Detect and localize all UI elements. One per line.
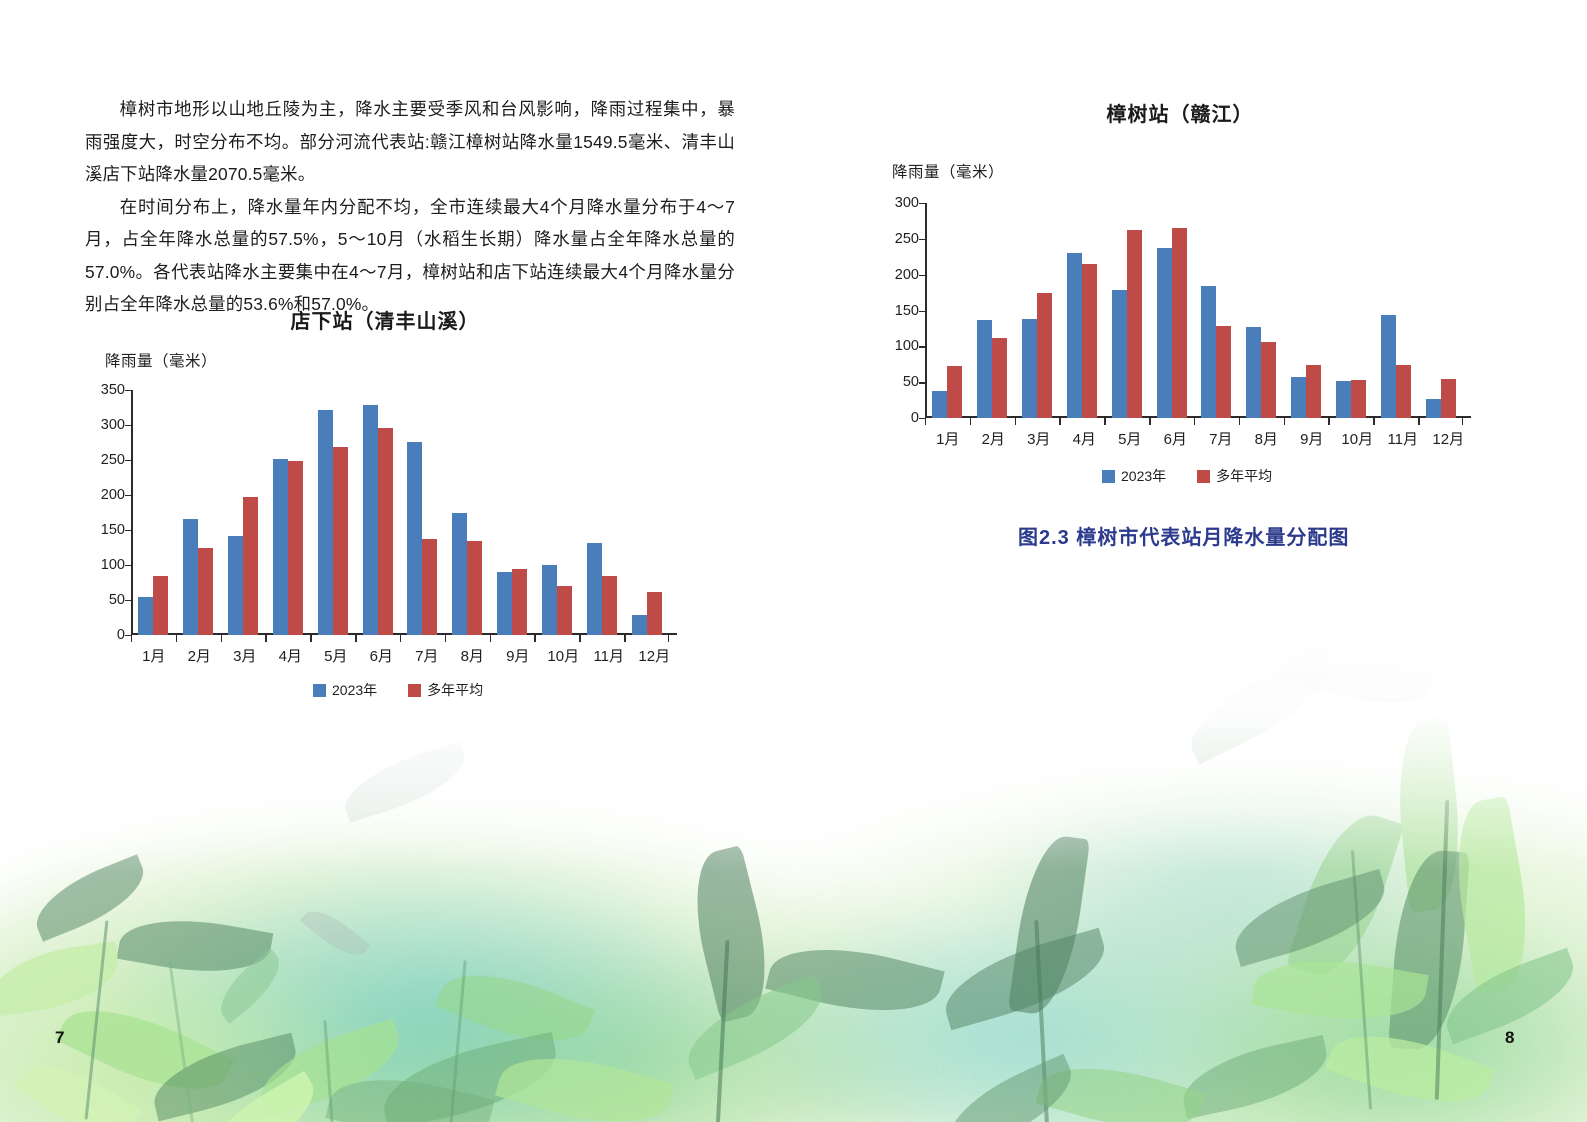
bar-group xyxy=(925,203,970,418)
x-axis-label: 1月 xyxy=(925,428,971,449)
bar-series-average xyxy=(1396,365,1411,418)
x-tick-mark xyxy=(310,635,311,642)
bar-series-average xyxy=(333,447,348,635)
bar-series-2023 xyxy=(1336,381,1351,418)
bar-groups-dianxia xyxy=(131,390,669,635)
bar-group xyxy=(355,390,400,635)
bar-series-average xyxy=(647,592,662,635)
x-axis-label: 6月 xyxy=(1153,428,1199,449)
page-number-right: 8 xyxy=(1505,1028,1514,1048)
bar-group xyxy=(265,390,310,635)
x-tick-mark xyxy=(579,635,580,642)
bar-groups-zhangshu xyxy=(925,203,1463,418)
x-axis-label: 4月 xyxy=(1062,428,1108,449)
legend-item-average: 多年平均 xyxy=(408,680,483,700)
y-tick-300: 300 xyxy=(101,417,125,433)
x-tick-mark xyxy=(534,635,535,642)
bar-series-2023 xyxy=(932,391,947,418)
bar-series-average xyxy=(153,576,168,635)
x-axis-label: 11月 xyxy=(586,645,632,666)
x-axis-label: 5月 xyxy=(1107,428,1153,449)
x-axis-label: 3月 xyxy=(1016,428,1062,449)
legend-dianxia: 2023年 多年平均 xyxy=(313,680,483,700)
x-tick-mark xyxy=(490,635,491,642)
bar-series-average xyxy=(947,366,962,418)
legend-swatch-2023 xyxy=(313,684,326,697)
x-tick-mark xyxy=(265,635,266,642)
chart-zhangshu-station: 樟树站（赣江） 降雨量（毫米） 300 250 200 150 100 50 0… xyxy=(880,98,1480,498)
y-tick-0: 0 xyxy=(911,410,919,426)
bar-series-2023 xyxy=(632,615,647,635)
x-axis-label: 7月 xyxy=(404,645,450,666)
bar-series-average xyxy=(198,548,213,635)
bar-series-average xyxy=(1037,293,1052,418)
bar-series-2023 xyxy=(1157,248,1172,418)
y-axis-label-dianxia: 降雨量（毫米） xyxy=(105,349,217,371)
y-tick-150: 150 xyxy=(895,303,919,319)
bar-group xyxy=(445,390,490,635)
x-tick-mark xyxy=(1462,418,1463,425)
bar-series-2023 xyxy=(1067,253,1082,418)
x-tick-mark xyxy=(1328,418,1329,425)
bar-series-average xyxy=(557,586,572,635)
x-tick-mark xyxy=(1418,418,1419,425)
y-tick-50: 50 xyxy=(903,374,919,390)
paragraph-2: 在时间分布上，降水量年内分配不均，全市连续最大4个月降水量分布于4～7月，占全年… xyxy=(85,191,735,321)
chart-title-zhangshu: 樟树站（赣江） xyxy=(880,98,1480,127)
bar-series-2023 xyxy=(452,513,467,635)
y-tick-150: 150 xyxy=(101,522,125,538)
legend-label-average: 多年平均 xyxy=(1216,466,1272,486)
x-axis-label: 3月 xyxy=(222,645,268,666)
bar-group xyxy=(624,390,669,635)
bar-series-average xyxy=(243,497,258,635)
x-tick-mark xyxy=(1104,418,1105,425)
y-axis-label-zhangshu: 降雨量（毫米） xyxy=(892,160,1004,182)
y-tick-0: 0 xyxy=(117,627,125,643)
x-axis-label: 4月 xyxy=(268,645,314,666)
x-tick-mark xyxy=(1194,418,1195,425)
bar-series-2023 xyxy=(138,597,153,636)
x-tick-mark xyxy=(668,635,669,642)
bar-series-average xyxy=(1127,230,1142,418)
x-axis-label: 5月 xyxy=(313,645,359,666)
figure-caption: 图2.3 樟树市代表站月降水量分配图 xyxy=(1018,521,1349,550)
bar-series-2023 xyxy=(1426,399,1441,418)
bar-series-average xyxy=(1216,326,1231,418)
legend-label-2023: 2023年 xyxy=(1121,466,1166,486)
bar-series-2023 xyxy=(407,442,422,635)
bar-series-average xyxy=(1261,342,1276,418)
bar-group xyxy=(1059,203,1104,418)
x-axis-label: 9月 xyxy=(1289,428,1335,449)
y-tick-300: 300 xyxy=(895,195,919,211)
y-tick-100: 100 xyxy=(101,557,125,573)
legend-item-average: 多年平均 xyxy=(1197,466,1272,486)
legend-zhangshu: 2023年 多年平均 xyxy=(1102,466,1272,486)
y-tick-200: 200 xyxy=(895,267,919,283)
x-axis-label: 12月 xyxy=(632,645,678,666)
x-tick-mark xyxy=(1059,418,1060,425)
x-axis-label: 8月 xyxy=(1244,428,1290,449)
x-axis-label: 10月 xyxy=(1335,428,1381,449)
body-text-column: 樟树市地形以山地丘陵为主，降水主要受季风和台风影响，降雨过程集中，暴雨强度大，时… xyxy=(85,93,735,321)
bar-series-average xyxy=(1351,380,1366,418)
x-tick-mark xyxy=(131,635,132,642)
legend-label-2023: 2023年 xyxy=(332,680,377,700)
legend-item-2023: 2023年 xyxy=(1102,466,1166,486)
bar-series-2023 xyxy=(228,536,243,635)
bar-series-2023 xyxy=(1201,286,1216,418)
bar-series-average xyxy=(378,428,393,635)
bar-group xyxy=(490,390,535,635)
x-tick-mark xyxy=(445,635,446,642)
bar-series-average xyxy=(288,461,303,635)
x-axis-labels-dianxia: 1月2月3月4月5月6月7月8月9月10月11月12月 xyxy=(131,645,677,666)
bar-series-2023 xyxy=(1381,315,1396,418)
x-tick-mark xyxy=(925,418,926,425)
y-tick-50: 50 xyxy=(109,592,125,608)
bar-series-2023 xyxy=(273,459,288,635)
plot-area-dianxia: 350 300 250 200 150 100 50 0 xyxy=(131,390,669,635)
page-number-left: 7 xyxy=(55,1028,64,1048)
chart-dianxia-station: 店下站（清丰山溪） 降雨量（毫米） 350 300 250 200 150 10… xyxy=(85,305,685,705)
y-tick-250: 250 xyxy=(895,231,919,247)
bar-group xyxy=(1015,203,1060,418)
bar-series-2023 xyxy=(1022,319,1037,418)
x-tick-mark xyxy=(1239,418,1240,425)
bar-group xyxy=(970,203,1015,418)
bar-series-2023 xyxy=(977,320,992,418)
legend-label-average: 多年平均 xyxy=(427,680,483,700)
bar-series-2023 xyxy=(1112,290,1127,418)
legend-swatch-average xyxy=(1197,470,1210,483)
x-tick-mark xyxy=(400,635,401,642)
x-tick-mark xyxy=(221,635,222,642)
x-tick-mark xyxy=(176,635,177,642)
chart-title-dianxia: 店下站（清丰山溪） xyxy=(85,305,685,334)
bar-group xyxy=(1239,203,1284,418)
x-axis-label: 2月 xyxy=(177,645,223,666)
bar-group xyxy=(1104,203,1149,418)
bar-series-2023 xyxy=(318,410,333,635)
bar-series-average xyxy=(1172,228,1187,418)
bar-series-2023 xyxy=(1291,377,1306,418)
x-tick-mark xyxy=(624,635,625,642)
y-tick-350: 350 xyxy=(101,382,125,398)
legend-swatch-2023 xyxy=(1102,470,1115,483)
bar-group xyxy=(131,390,176,635)
x-axis-labels-zhangshu: 1月2月3月4月5月6月7月8月9月10月11月12月 xyxy=(925,428,1471,449)
bar-group xyxy=(221,390,266,635)
x-axis-label: 7月 xyxy=(1198,428,1244,449)
bar-series-2023 xyxy=(183,519,198,635)
bar-series-2023 xyxy=(497,572,512,635)
x-tick-mark xyxy=(1015,418,1016,425)
bar-series-2023 xyxy=(542,565,557,635)
bar-series-average xyxy=(1306,365,1321,418)
x-tick-mark xyxy=(970,418,971,425)
bar-group xyxy=(579,390,624,635)
x-axis-label: 8月 xyxy=(450,645,496,666)
bar-series-average xyxy=(1441,379,1456,418)
plot-area-zhangshu: 300 250 200 150 100 50 0 xyxy=(925,203,1463,418)
bar-group xyxy=(1149,203,1194,418)
bar-group xyxy=(310,390,355,635)
bar-group xyxy=(1328,203,1373,418)
bar-group xyxy=(1194,203,1239,418)
bar-series-average xyxy=(422,539,437,635)
bar-group xyxy=(176,390,221,635)
bar-series-average xyxy=(467,541,482,636)
legend-swatch-average xyxy=(408,684,421,697)
bar-series-average xyxy=(512,569,527,635)
bar-group xyxy=(1284,203,1329,418)
bar-series-average xyxy=(1082,264,1097,418)
legend-item-2023: 2023年 xyxy=(313,680,377,700)
bar-group xyxy=(1373,203,1418,418)
paragraph-1: 樟树市地形以山地丘陵为主，降水主要受季风和台风影响，降雨过程集中，暴雨强度大，时… xyxy=(85,93,735,191)
x-axis-label: 2月 xyxy=(971,428,1017,449)
x-tick-mark xyxy=(1373,418,1374,425)
x-tick-mark xyxy=(1149,418,1150,425)
x-tick-mark xyxy=(355,635,356,642)
bar-series-2023 xyxy=(1246,327,1261,418)
bar-series-average xyxy=(602,576,617,636)
y-tick-200: 200 xyxy=(101,487,125,503)
bar-series-2023 xyxy=(587,543,602,635)
x-tick-mark xyxy=(1284,418,1285,425)
book-spread-page: 樟树市地形以山地丘陵为主，降水主要受季风和台风影响，降雨过程集中，暴雨强度大，时… xyxy=(0,0,1587,1122)
x-axis-label: 11月 xyxy=(1380,428,1426,449)
x-axis-label: 10月 xyxy=(541,645,587,666)
bar-group xyxy=(534,390,579,635)
bar-group xyxy=(1418,203,1463,418)
bar-series-2023 xyxy=(363,405,378,635)
bar-series-average xyxy=(992,338,1007,418)
y-tick-100: 100 xyxy=(895,338,919,354)
x-axis-label: 9月 xyxy=(495,645,541,666)
x-axis-label: 1月 xyxy=(131,645,177,666)
x-axis-label: 6月 xyxy=(359,645,405,666)
y-tick-250: 250 xyxy=(101,452,125,468)
bar-group xyxy=(400,390,445,635)
x-axis-label: 12月 xyxy=(1426,428,1472,449)
